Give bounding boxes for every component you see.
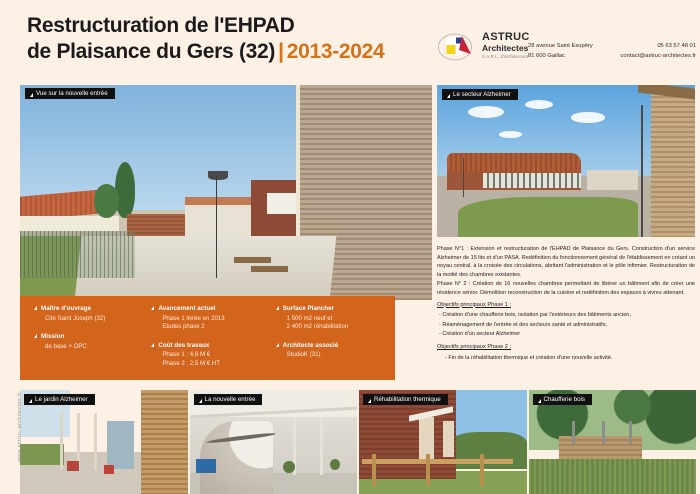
page-title: Restructuration de l'EHPAD de Plaisance … [27, 13, 384, 65]
brand-block: ASTRUC Architectes S.A.R.L. d'architectu… [438, 31, 696, 71]
hero-bench-2 [251, 266, 288, 272]
objective-item: - Création d'une chaufferie bois, isolat… [439, 311, 695, 321]
objective-item: - Réaménagement de l'entrée et des secte… [439, 321, 695, 331]
title-years: 2013-2024 [287, 40, 385, 63]
p4-undergrowth [529, 459, 697, 494]
info-label: Architecte associé [283, 341, 339, 350]
brand-subtitle: Architectes [482, 43, 530, 53]
p3-caption: Réhabilitation thermique [363, 394, 448, 405]
info-value: 1 500 m2 neuf et [276, 315, 395, 324]
contact-address-2: 81 600 Gaillac [528, 52, 606, 62]
info-label: Avancement actuel [158, 304, 215, 313]
p2-caption: La nouvelle entrée [194, 394, 263, 405]
p1-chair-1 [67, 461, 79, 471]
hero-canopy [20, 216, 119, 231]
p3-caption-label: Réhabilitation thermique [374, 394, 441, 405]
hero-photo: Vue sur la nouvelle entrée [20, 85, 432, 300]
caption-triangle-icon [199, 399, 202, 403]
p3-window-1 [419, 417, 434, 459]
hero-lamp-pole [216, 175, 217, 278]
p4-caption-label: Chaufferie bois [544, 394, 586, 405]
info-item-avancement: Avancement actuel Phase 1 livrée en 2013… [151, 304, 275, 332]
p2-caption-label: La nouvelle entrée [205, 394, 256, 405]
info-value: StudioK (31) [276, 351, 395, 360]
strip-photo-boiler: Chaufferie bois [529, 390, 697, 494]
p1-caption: Le jardin Alzheimer [24, 394, 95, 405]
info-item-cout: Coût des travaux Phase 1 : 4,6 M € Phase… [151, 341, 275, 369]
contact-phone: 05 63 57 48 01 [657, 42, 696, 52]
brand-legal: S.A.R.L. d'architecture [482, 53, 530, 60]
info-column-3: Surface Plancher 1 500 m2 neuf et 2 400 … [276, 304, 395, 377]
poster-root: Restructuration de l'EHPAD de Plaisance … [0, 0, 700, 494]
info-value: de base + OPC [34, 343, 151, 352]
title-line-1: Restructuration de l'EHPAD [27, 13, 384, 39]
objectives-phase-2-heading: Objectifs principaux Phase 2 : [437, 343, 695, 352]
title-line-2: de Plaisance du Gers (32)|2013-2024 [27, 39, 384, 65]
caption-triangle-icon [447, 94, 450, 98]
info-value: Phase 1 : 4,6 M € [151, 351, 275, 360]
project-description: Phase N°1 : Extension et restructuration… [437, 245, 695, 363]
info-value: Phase 2 : 2,5 M € HT [151, 360, 275, 369]
alzheimer-sector-photo: Le secteur Alzheimer [437, 85, 695, 237]
p3-post-1 [372, 454, 376, 485]
p1-grass [20, 444, 64, 465]
rphoto-caption: Le secteur Alzheimer [442, 89, 518, 100]
caption-triangle-icon [368, 399, 371, 403]
brand-contact: 28 avenue Saint Exupéry 05 63 57 48 01 8… [528, 42, 696, 61]
objective-item: - Création d'un secteur Alzheimer [439, 330, 695, 340]
info-label: Coût des travaux [158, 341, 209, 350]
hero-caption: Vue sur la nouvelle entrée [25, 88, 115, 99]
rphoto-lamp-right [641, 105, 643, 237]
p4-flue-2 [602, 421, 605, 444]
photo-strip: Le jardin Alzheimer La nouvelle entrée [20, 390, 696, 494]
info-label: Maître d'ouvrage [41, 304, 91, 313]
p4-flue-1 [572, 421, 575, 444]
info-item-architecte-associe: Architecte associé StudioK (31) [276, 341, 395, 360]
description-phase-2: Phase N° 2 : Création de 16 nouvelles ch… [437, 280, 695, 297]
brand-name: ASTRUC [482, 31, 530, 43]
poster-header: Restructuration de l'EHPAD de Plaisance … [0, 0, 700, 80]
p3-window-2 [443, 421, 455, 456]
hero-tree [115, 162, 136, 218]
info-column-1: Maître d'ouvrage Cité Saint Joseph (32) … [34, 304, 151, 377]
p1-glass-door [107, 421, 134, 469]
info-item-surface: Surface Plancher 1 500 m2 neuf et 2 400 … [276, 304, 395, 332]
bullet-icon [34, 306, 37, 310]
bullet-icon [151, 343, 154, 347]
info-label: Surface Plancher [283, 304, 334, 313]
hero-tree-2 [94, 184, 119, 218]
project-info-panel: Maître d'ouvrage Cité Saint Joseph (32) … [20, 296, 395, 380]
info-label: Mission [41, 332, 64, 341]
info-value: 2 400 m2 réhabilitation [276, 323, 395, 332]
p4-flue-3 [629, 421, 632, 444]
p3-post-3 [480, 454, 484, 485]
rphoto-grass [458, 197, 639, 237]
info-item-maitre-ouvrage: Maître d'ouvrage Cité Saint Joseph (32) [34, 304, 151, 323]
caption-triangle-icon [30, 93, 33, 97]
rphoto-cloud-3 [571, 112, 605, 123]
hero-bench-1 [234, 257, 271, 263]
rphoto-building-2 [587, 170, 639, 190]
p1-timber-wall [141, 390, 188, 494]
strip-photo-entrance: La nouvelle entrée [190, 390, 358, 494]
website-url-vertical[interactable]: www.astruc-architectes.fr [17, 379, 23, 475]
contact-email: contact@astruc-architectes.fr [621, 52, 696, 62]
caption-triangle-icon [538, 399, 541, 403]
p1-caption-label: Le jardin Alzheimer [35, 394, 88, 405]
p2-plant-1 [283, 461, 295, 473]
rphoto-caption-label: Le secteur Alzheimer [453, 89, 511, 100]
description-phase-1: Phase N°1 : Extension et restructuration… [437, 245, 695, 279]
caption-triangle-icon [29, 399, 32, 403]
rphoto-glazing [483, 173, 581, 188]
contact-address-1: 28 avenue Saint Exupéry [528, 42, 606, 52]
info-value: Etudes phase 2 [151, 323, 275, 332]
brand-wordmark: ASTRUC Architectes S.A.R.L. d'architectu… [482, 31, 530, 60]
objective-item: - Fin de la réhabilitation thermique et … [445, 354, 695, 364]
p3-post-2 [426, 454, 430, 485]
hero-lamp-head [208, 171, 229, 180]
title-separator: | [275, 40, 287, 63]
info-value: Phase 1 livrée en 2013 [151, 315, 275, 324]
p2-spiral-staircase [200, 421, 274, 494]
bullet-icon [151, 306, 154, 310]
strip-photo-garden: Le jardin Alzheimer [20, 390, 188, 494]
bullet-icon [34, 334, 37, 338]
p2-blue-panel [196, 459, 216, 474]
p1-column-3 [94, 413, 97, 470]
bullet-icon [276, 343, 279, 347]
info-column-2: Avancement actuel Phase 1 livrée en 2013… [151, 304, 275, 377]
p1-chair-2 [104, 465, 114, 474]
bullet-icon [276, 306, 279, 310]
strip-photo-thermal: Réhabilitation thermique [359, 390, 527, 494]
info-item-mission: Mission de base + OPC [34, 332, 151, 351]
title-subject: de Plaisance du Gers (32) [27, 40, 275, 63]
p1-column-1 [60, 413, 63, 470]
p4-caption: Chaufferie bois [533, 394, 593, 405]
info-value: Cité Saint Joseph (32) [34, 315, 151, 324]
objectives-phase-1-heading: Objectifs principaux Phase 1 : [437, 301, 695, 310]
hero-fence [20, 231, 135, 278]
rphoto-lamp-left [463, 158, 464, 198]
rphoto-timber-facade [651, 88, 695, 237]
astruc-logo-icon [438, 32, 478, 62]
hero-caption-label: Vue sur la nouvelle entrée [36, 88, 108, 99]
p2-column-2 [320, 417, 323, 475]
p3-barrier-rail [362, 459, 513, 464]
